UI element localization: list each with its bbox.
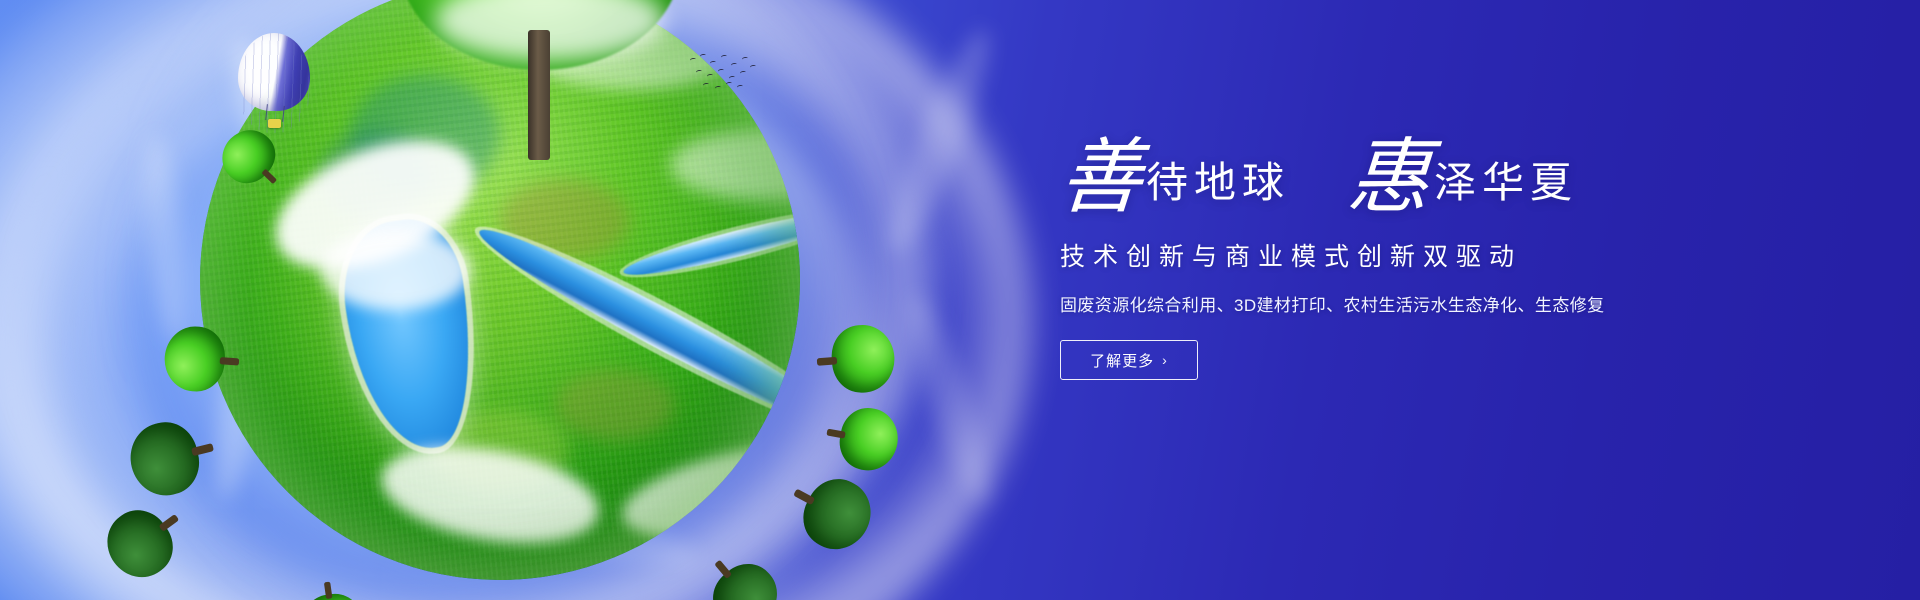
lake xyxy=(335,213,486,457)
rim-tree xyxy=(822,401,903,475)
headline-char-shan: 善 xyxy=(1057,140,1144,215)
headline-phrase-zehuaxia: 泽华夏 xyxy=(1434,163,1578,215)
rim-tree xyxy=(163,324,242,394)
river xyxy=(620,201,800,284)
planet-cloud xyxy=(320,230,470,310)
terrain-patch xyxy=(430,410,570,490)
banner-content: 善 待地球 惠 泽华夏 技术创新与商业模式创新双驱动 固废资源化综合利用、3D建… xyxy=(1060,140,1700,380)
planet-cloud xyxy=(374,432,606,559)
hero-banner: 善 待地球 惠 泽华夏 技术创新与商业模式创新双驱动 固废资源化综合利用、3D建… xyxy=(0,0,1920,600)
rim-tree xyxy=(815,323,897,396)
banner-subtitle: 技术创新与商业模式创新双驱动 xyxy=(1060,237,1700,273)
terrain-patch xyxy=(500,180,630,260)
hot-air-balloon xyxy=(238,33,310,133)
river xyxy=(470,214,800,446)
headline-char-hui: 惠 xyxy=(1345,140,1432,215)
hero-tree xyxy=(400,0,680,140)
terrain-patch xyxy=(555,370,675,440)
planet-cloud xyxy=(670,130,800,200)
headline-phrase-daidiqiu: 待地球 xyxy=(1146,163,1290,215)
banner-description: 固废资源化综合利用、3D建材打印、农村生活污水生态净化、生态修复 xyxy=(1060,291,1700,316)
learn-more-button[interactable]: 了解更多 › xyxy=(1060,340,1198,380)
chevron-right-icon: › xyxy=(1162,352,1168,368)
birds-flock xyxy=(688,52,758,92)
terrain-patch xyxy=(320,130,430,220)
page-title: 善 待地球 惠 泽华夏 xyxy=(1060,140,1700,215)
planet-cloud xyxy=(257,115,493,296)
learn-more-label: 了解更多 xyxy=(1090,350,1154,371)
